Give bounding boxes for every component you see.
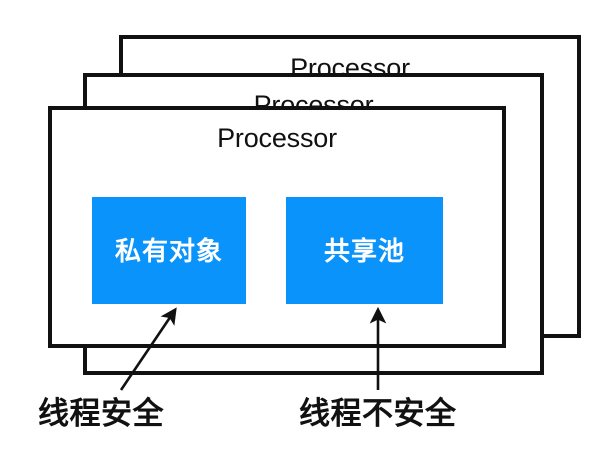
processor-card-front-label: Processor: [52, 125, 502, 152]
memory-block-shared-pool: 共享池: [286, 197, 443, 304]
caption-thread-unsafe: 线程不安全: [299, 398, 457, 429]
caption-thread-safe: 线程安全: [38, 398, 164, 429]
memory-block-private-object: 私有对象: [92, 197, 246, 304]
processor-memory-diagram: Processor Processor Processor 私有对象 共享池 线…: [0, 0, 611, 464]
memory-block-private-object-label: 私有对象: [115, 238, 223, 264]
memory-block-shared-pool-label: 共享池: [324, 238, 405, 264]
